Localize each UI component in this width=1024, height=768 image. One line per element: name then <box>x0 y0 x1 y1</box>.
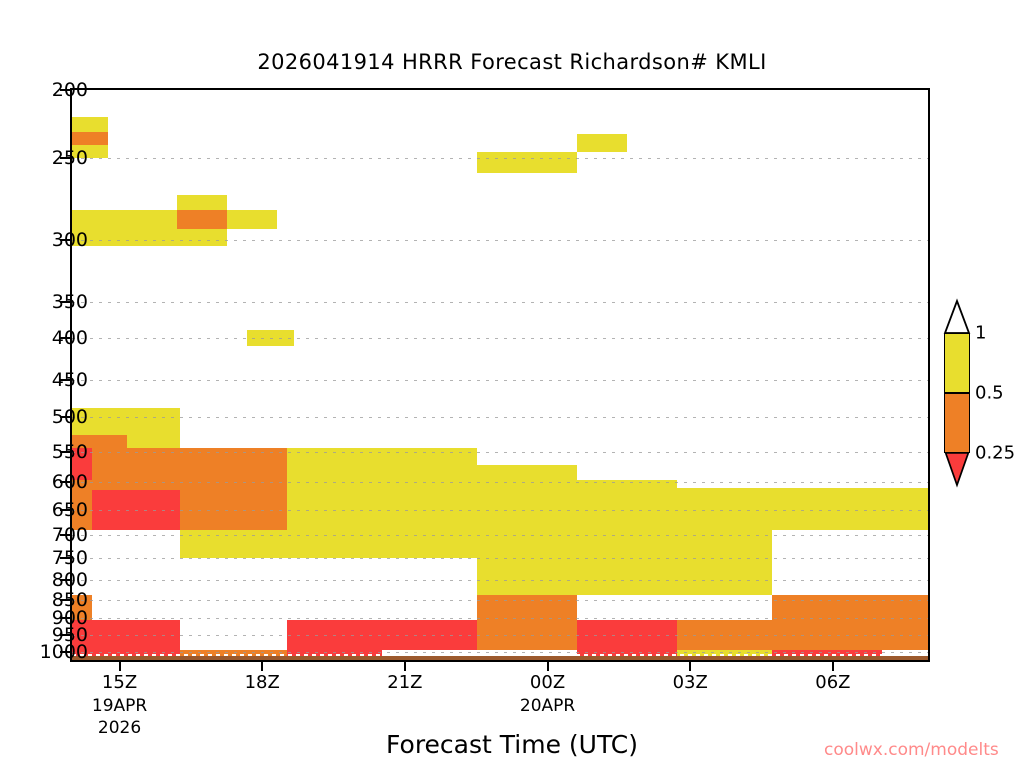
heatmap-cell <box>772 620 882 650</box>
heatmap-cell <box>477 595 577 620</box>
x-axis-tick-label: 03Z <box>673 672 708 693</box>
heatmap-cell <box>287 530 477 558</box>
heatmap-cell <box>577 620 677 650</box>
heatmap-cell <box>577 134 627 152</box>
heatmap-cell <box>177 210 227 229</box>
x-axis-tick-label: 15Z <box>102 672 137 693</box>
heatmap-cell <box>477 530 577 595</box>
plot-area <box>70 88 930 662</box>
heatmap-cell <box>882 620 928 650</box>
page-title: 2026041914 HRRR Forecast Richardson# KML… <box>0 50 1024 74</box>
heatmap-cell <box>477 465 577 530</box>
heatmap-cell <box>180 530 287 558</box>
heatmap-cell <box>882 595 928 620</box>
colorbar-bottom-arrow-icon <box>944 452 970 486</box>
x-axis-tick-label: 18Z <box>245 672 280 693</box>
x-axis-date-label: 20APR <box>520 696 575 716</box>
heatmap-cell <box>177 195 227 210</box>
y-axis-tick-mark <box>60 579 70 581</box>
y-axis-tick-mark <box>60 451 70 453</box>
heatmap-cell <box>577 530 677 558</box>
terrain-band <box>72 656 928 660</box>
y-axis-tick-mark <box>60 634 70 636</box>
y-axis-tick-mark <box>60 509 70 511</box>
x-axis-tick-label: 06Z <box>815 672 850 693</box>
x-axis-tick-mark <box>261 662 263 671</box>
chart-canvas: 2026041914 HRRR Forecast Richardson# KML… <box>0 0 1024 768</box>
heatmap-cell <box>477 620 577 650</box>
y-axis-tick-mark <box>60 557 70 559</box>
heatmap-cell <box>180 448 287 490</box>
y-axis-tick-mark <box>60 617 70 619</box>
heatmap-cell <box>177 229 227 246</box>
heatmap-cell <box>772 595 882 620</box>
heatmap-cell <box>72 117 108 132</box>
heatmap-cell <box>677 488 772 530</box>
heatmap-cell <box>477 152 577 173</box>
heatmap-cells <box>72 90 928 660</box>
colorbar-segments <box>944 333 970 453</box>
x-axis-tick-mark <box>832 662 834 671</box>
heatmap-cell <box>382 448 477 530</box>
heatmap-cell <box>677 620 772 650</box>
heatmap-cell <box>382 620 477 650</box>
x-axis-tick-mark <box>689 662 691 671</box>
terrain-edge-line <box>72 654 928 656</box>
colorbar-segment <box>944 333 970 393</box>
y-axis-tick-mark <box>60 89 70 91</box>
colorbar-legend: 10.50.25 <box>944 300 1024 485</box>
x-axis-tick-mark <box>119 662 121 671</box>
heatmap-cell <box>882 488 928 530</box>
colorbar-tick-label: 1 <box>975 323 986 344</box>
x-axis-tick-mark <box>404 662 406 671</box>
heatmap-cell <box>72 132 108 145</box>
heatmap-cell <box>577 558 677 595</box>
y-axis-tick-mark <box>60 239 70 241</box>
colorbar-top-arrow-icon <box>944 300 970 334</box>
y-axis-tick-mark <box>60 301 70 303</box>
x-axis-tick-mark <box>547 662 549 671</box>
y-axis-tick-mark <box>60 379 70 381</box>
heatmap-cell <box>677 530 772 558</box>
heatmap-cell <box>577 480 677 530</box>
heatmap-cell <box>287 448 382 530</box>
x-axis-date-label: 19APR <box>92 696 147 716</box>
y-axis-tick-mark <box>60 599 70 601</box>
colorbar-segment <box>944 393 970 453</box>
y-axis-tick-mark <box>60 337 70 339</box>
y-axis-tick-mark <box>60 416 70 418</box>
x-axis-tick-label: 21Z <box>387 672 422 693</box>
heatmap-cell <box>247 330 294 346</box>
colorbar-tick-label: 0.25 <box>975 443 1015 464</box>
heatmap-cell <box>92 490 180 530</box>
colorbar-tick-label: 0.5 <box>975 383 1004 404</box>
y-axis-tick-mark <box>60 157 70 159</box>
y-axis-tick-mark <box>60 481 70 483</box>
heatmap-cell <box>772 488 882 530</box>
heatmap-cell <box>127 408 180 448</box>
heatmap-cell <box>677 558 772 595</box>
heatmap-cell <box>180 490 287 530</box>
heatmap-cell <box>92 448 180 490</box>
y-axis-tick-mark <box>60 651 70 653</box>
x-axis-tick-label: 00Z <box>530 672 565 693</box>
watermark: coolwx.com/modelts <box>824 740 999 760</box>
heatmap-cell <box>227 210 277 229</box>
y-axis-tick-mark <box>60 534 70 536</box>
